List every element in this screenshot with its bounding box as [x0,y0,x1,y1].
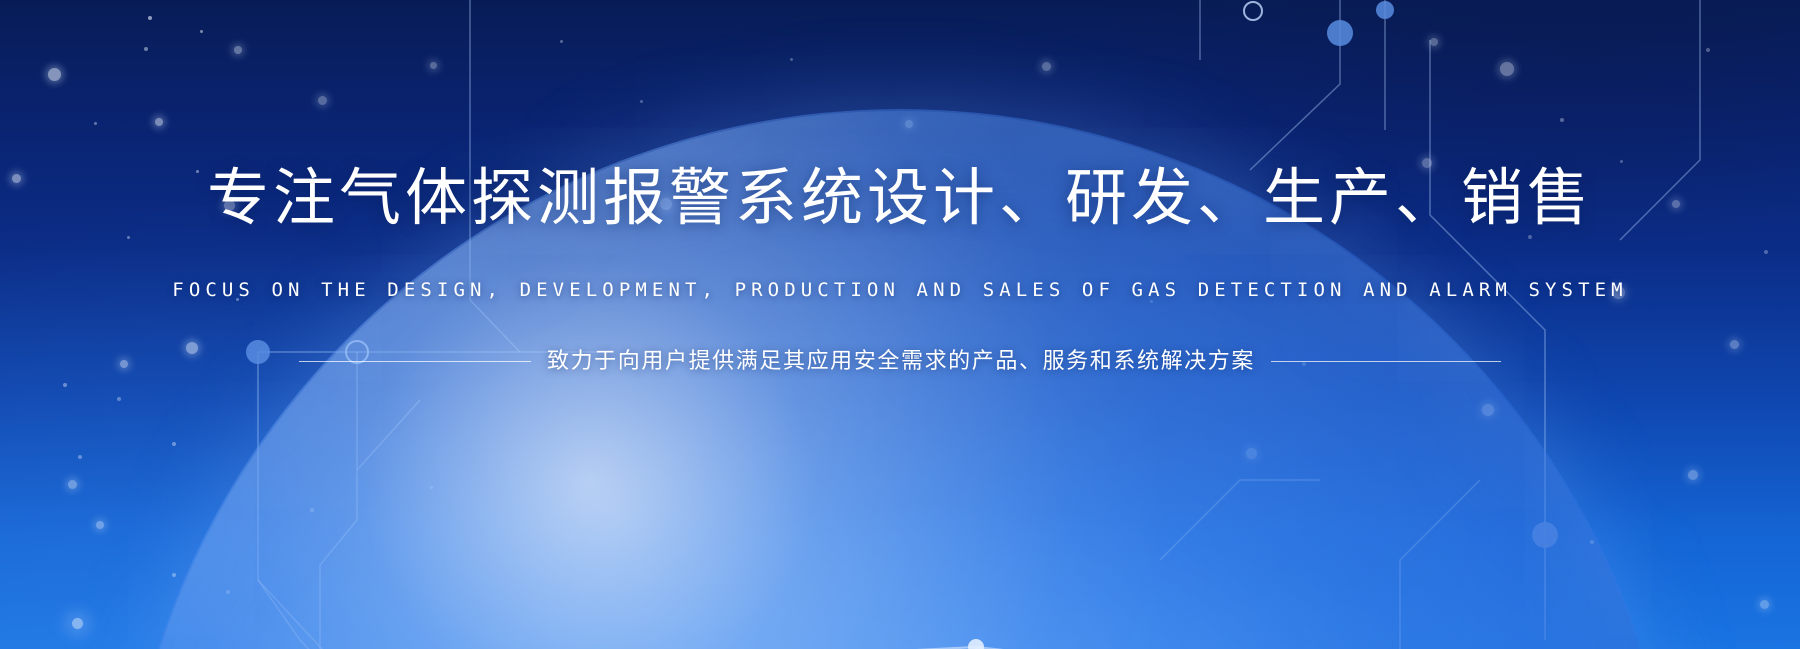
divider-right [1271,361,1501,362]
hero-banner: 专注气体探测报警系统设计、研发、生产、销售 FOCUS ON THE DESIG… [0,0,1800,649]
starfield-particles [0,0,1800,649]
tagline-text: 致力于向用户提供满足其应用安全需求的产品、服务和系统解决方案 [547,350,1255,372]
background-glow [0,0,1800,649]
divider-left [299,361,531,362]
tagline-row: 致力于向用户提供满足其应用安全需求的产品、服务和系统解决方案 [0,350,1800,372]
globe-rim-light [120,109,1680,649]
page-title: 专注气体探测报警系统设计、研发、生产、销售 [0,168,1800,230]
globe-atmosphere-haze [94,83,1706,649]
circuit-board-traces [0,0,1800,649]
globe-continents-and-network [120,109,1680,649]
globe-surface [120,109,1680,649]
page-subtitle-english: FOCUS ON THE DESIGN, DEVELOPMENT, PRODUC… [0,281,1800,300]
network-globe [120,109,1680,649]
